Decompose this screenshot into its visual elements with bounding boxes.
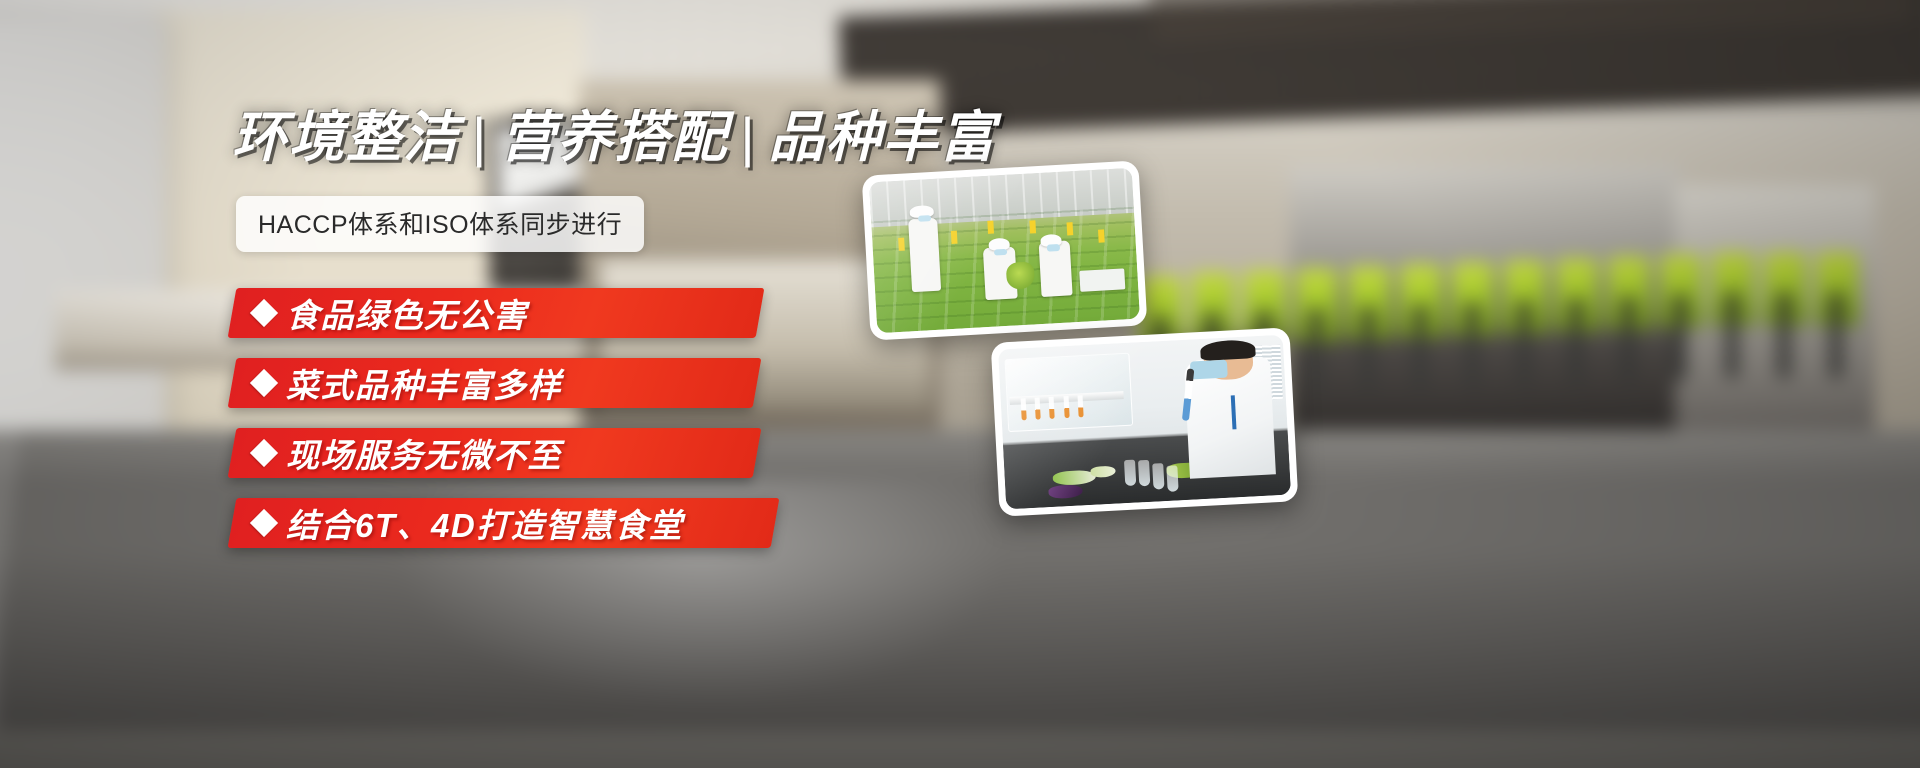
feature-bar-2-label: 菜式品种丰富多样 <box>286 359 562 407</box>
lab-testing-photo[interactable] <box>991 327 1299 516</box>
diamond-bullet-icon <box>250 299 278 327</box>
headline-separator-1: | <box>460 106 500 168</box>
feature-bar-4[interactable]: 结合6T、4D打造智慧食堂 <box>228 498 780 548</box>
promo-banner: 环境整洁|营养搭配|品种丰富 HACCP体系和ISO体系同步进行 食品绿色无公害… <box>0 0 1920 768</box>
greenhouse-inspection-photo[interactable] <box>862 160 1148 340</box>
headline-part-3: 品种丰富 <box>769 106 997 168</box>
feature-bar-1[interactable]: 食品绿色无公害 <box>228 288 765 338</box>
greenhouse-photo-image <box>869 168 1140 333</box>
feature-bar-2[interactable]: 菜式品种丰富多样 <box>228 358 762 408</box>
certification-subtitle: HACCP体系和ISO体系同步进行 <box>236 196 644 252</box>
feature-bar-list: 食品绿色无公害 菜式品种丰富多样 现场服务无微不至 结合6T、4D打造智慧食堂 <box>232 288 775 568</box>
headline-part-1: 环境整洁 <box>232 106 460 168</box>
headline-part-2: 营养搭配 <box>500 106 728 168</box>
feature-bar-3[interactable]: 现场服务无微不至 <box>228 428 762 478</box>
banner-headline: 环境整洁|营养搭配|品种丰富 <box>232 92 997 172</box>
feature-bar-4-label: 结合6T、4D打造智慧食堂 <box>286 499 683 547</box>
feature-bar-3-label: 现场服务无微不至 <box>286 429 562 477</box>
headline-separator-2: | <box>728 106 768 168</box>
feature-bar-1-label: 食品绿色无公害 <box>286 289 528 337</box>
lab-photo-image <box>998 335 1291 510</box>
diamond-bullet-icon <box>250 439 278 467</box>
diamond-bullet-icon <box>250 509 278 537</box>
diamond-bullet-icon <box>250 369 278 397</box>
face-mask-icon <box>1190 360 1228 380</box>
